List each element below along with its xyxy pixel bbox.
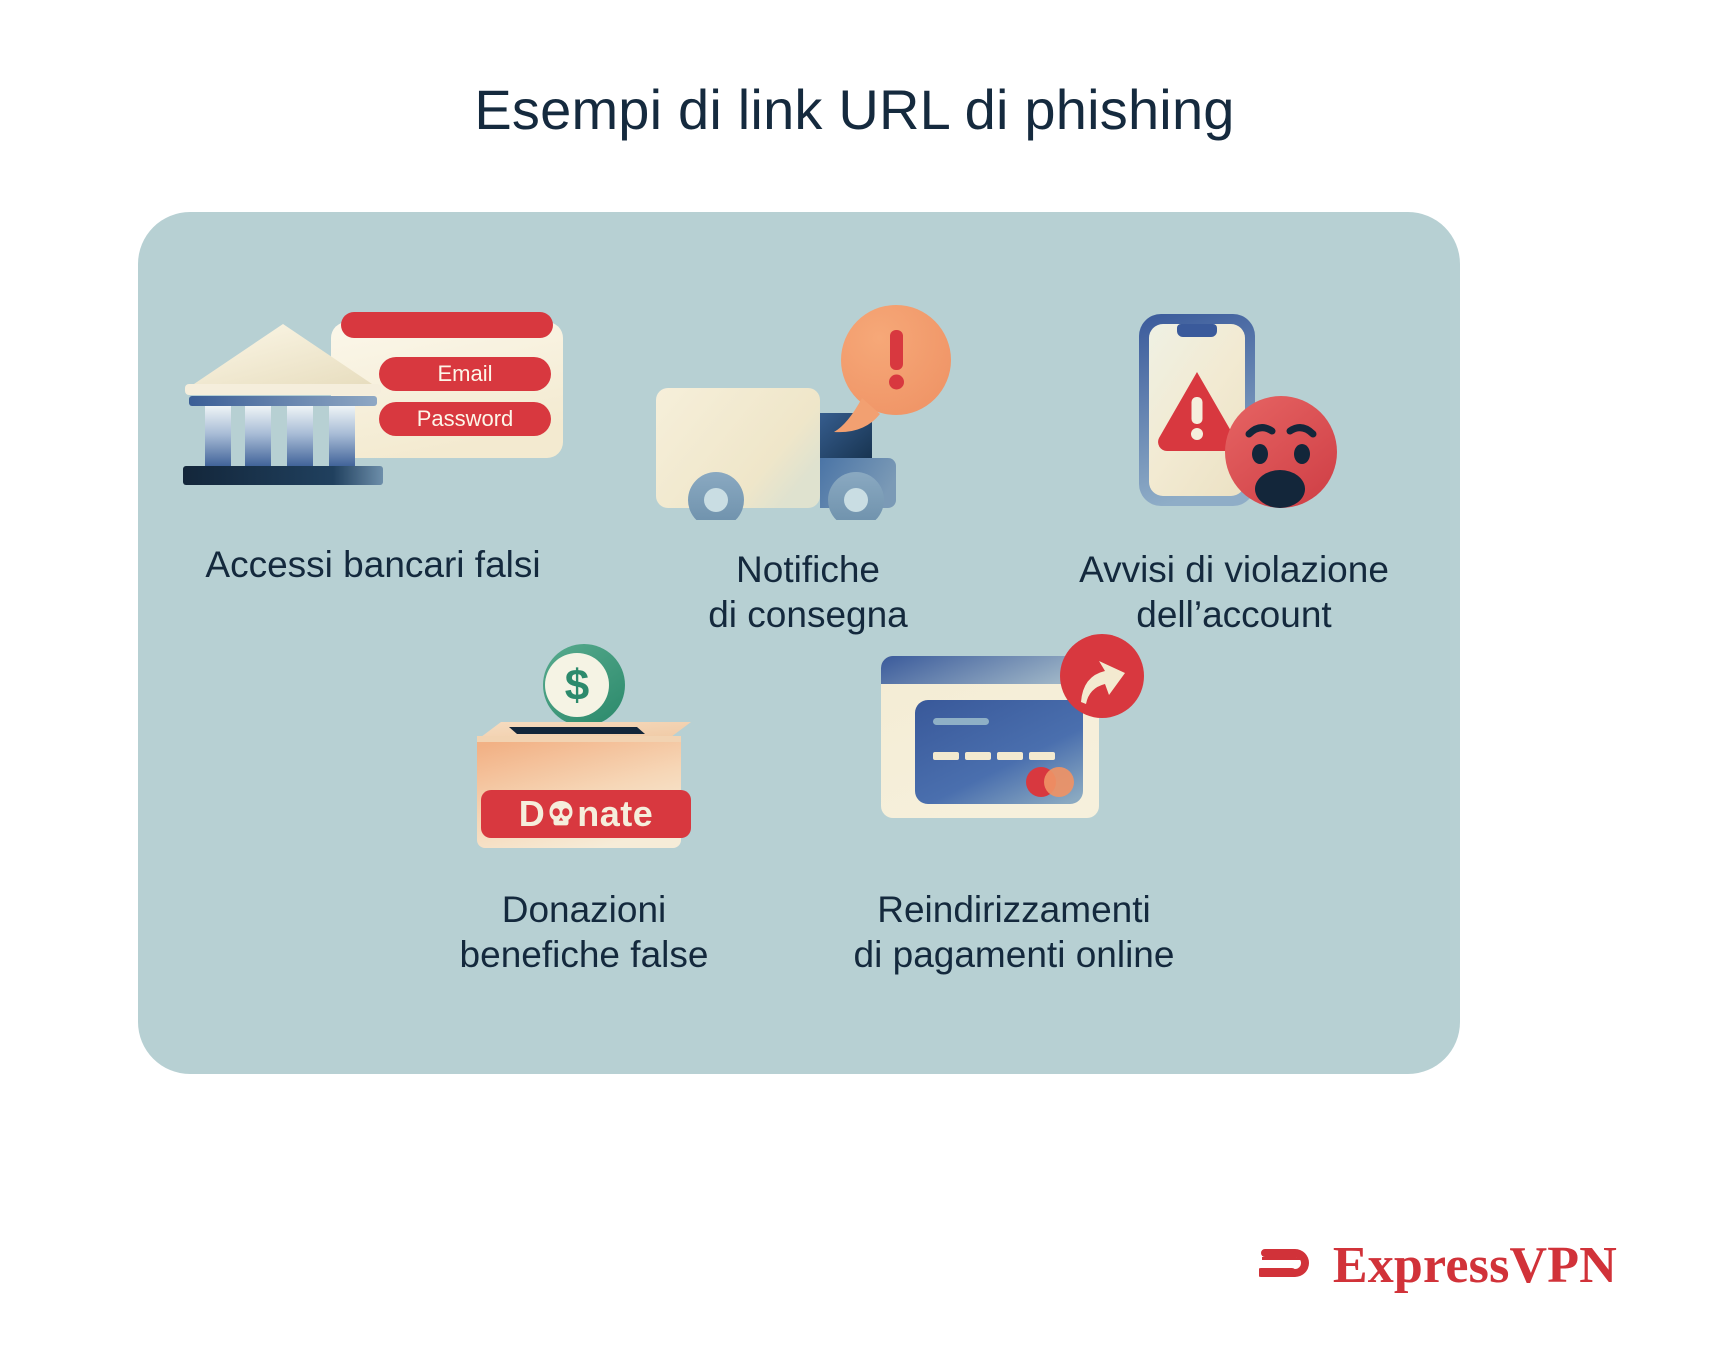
phone-breach-alert-icon [1109,300,1359,525]
item-caption-fake-bank-logins: Accessi bancari falsi [205,542,540,587]
donate-button-label-before: D [519,793,546,835]
bank-login-icon: Email Password [183,300,563,490]
item-online-payment-redirects: Reindirizzamenti di pagamenti online [799,630,1229,977]
item-caption-fake-charity-donations: Donazioni benefiche false [460,887,709,977]
coin-dollar-glyph: $ [565,661,589,710]
items-row-bottom: $ D [138,630,1460,977]
password-field[interactable]: Password [379,402,551,436]
item-fake-charity-donations: $ D [369,630,799,977]
item-caption-online-payment-redirects: Reindirizzamenti di pagamenti online [854,887,1175,977]
item-account-breach-alerts: Avvisi di violazione dell’account [1008,300,1460,637]
expressvpn-logo-text: ExpressVPN [1333,1236,1617,1295]
expressvpn-logo-mark [1259,1235,1319,1295]
donate-button-label-after: nate [577,793,653,835]
skull-icon [547,799,575,829]
payment-redirect-icon [869,630,1159,865]
expressvpn-logo[interactable]: ExpressVPN [1259,1235,1617,1295]
donation-box-icon: $ D [439,630,729,865]
item-fake-bank-logins: Email Password Accessi bancari falsi [138,300,608,587]
infographic-page: Esempi di link URL di phishing [0,0,1709,1355]
email-field-label: Email [437,361,492,387]
item-caption-delivery-notifications: Notifiche di consegna [708,547,908,637]
page-title: Esempi di link URL di phishing [0,78,1709,142]
password-field-label: Password [417,406,514,432]
item-delivery-notifications: Notifiche di consegna [608,300,1008,637]
items-row-top: Email Password Accessi bancari falsi [138,300,1460,637]
donate-button[interactable]: D nate [481,790,691,838]
item-caption-account-breach-alerts: Avvisi di violazione dell’account [1079,547,1389,637]
email-field[interactable]: Email [379,357,551,391]
delivery-truck-alert-icon [648,300,968,525]
